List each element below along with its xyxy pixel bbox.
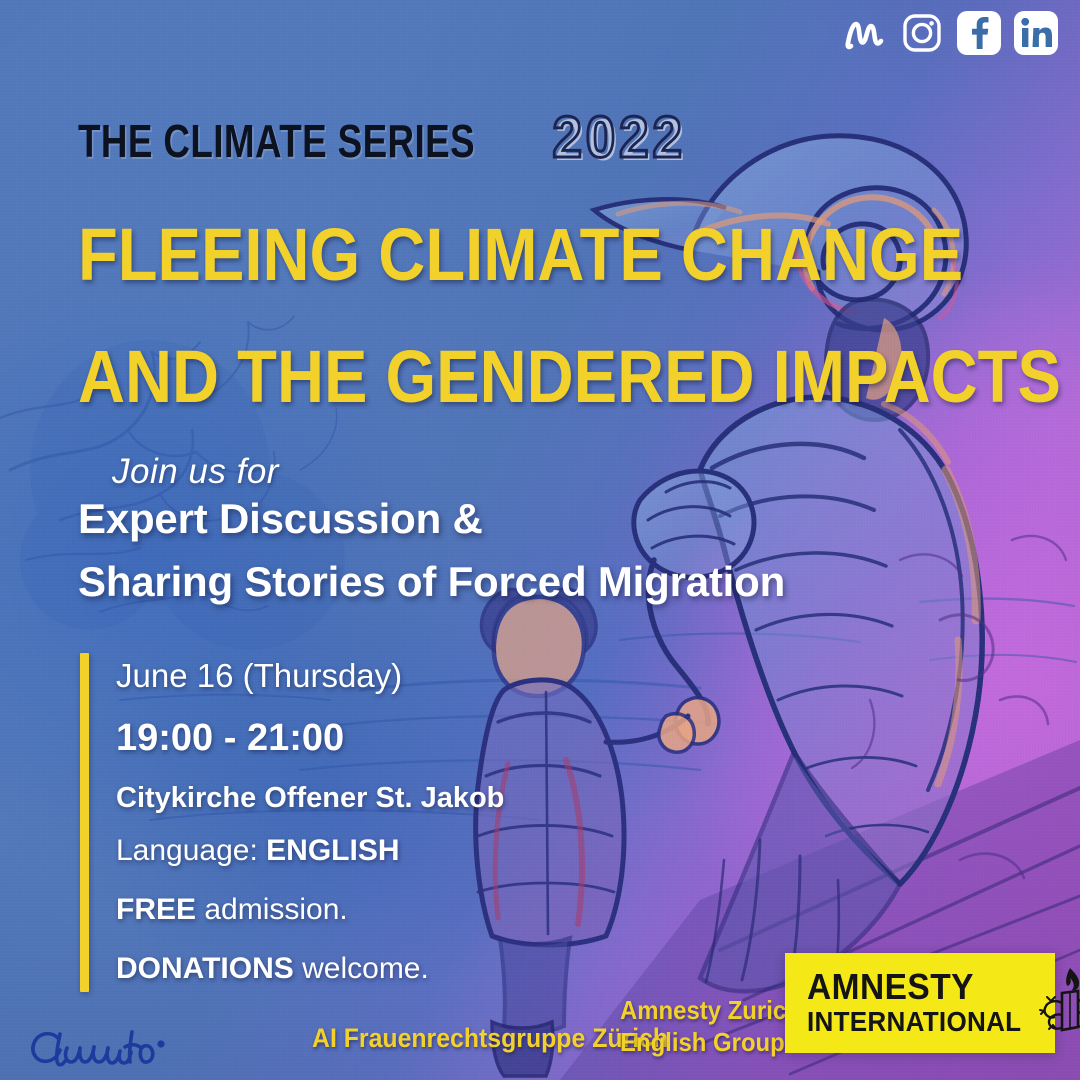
series-label: THE CLIMATE SERIES <box>78 114 475 168</box>
subtitle-line-2: Sharing Stories of Forced Migration <box>78 561 868 603</box>
logo-line-1: AMNESTY <box>807 970 1021 1005</box>
admission-note: FREE admission. <box>116 893 504 927</box>
headline-line-2: AND THE GENDERED IMPACTS <box>78 340 747 414</box>
series-header: THE CLIMATE SERIES 2022 <box>78 104 747 171</box>
facebook-icon[interactable] <box>957 11 1001 55</box>
language-label: Language: <box>116 834 266 867</box>
donations-rest: welcome. <box>294 952 429 985</box>
artist-signature <box>26 1022 176 1080</box>
candle-barbed-wire-icon <box>1037 965 1080 1042</box>
free-rest: admission. <box>196 893 348 926</box>
headline-line-1: FLEEING CLIMATE CHANGE <box>78 218 747 292</box>
subtitle-line-1: Expert Discussion & <box>78 498 868 540</box>
event-language: Language: ENGLISH <box>116 834 504 868</box>
logo-line-2: INTERNATIONAL <box>807 1009 1021 1036</box>
language-value: ENGLISH <box>266 834 399 867</box>
series-year: 2022 <box>553 104 686 171</box>
event-time: 19:00 - 21:00 <box>116 717 504 760</box>
organizer-english-group: English Group <box>620 1027 785 1058</box>
accent-bar <box>80 653 89 992</box>
event-details: June 16 (Thursday) 19:00 - 21:00 Citykir… <box>80 653 504 992</box>
donations-label: DONATIONS <box>116 952 294 985</box>
event-venue: Citykirche Offener St. Jakob <box>116 782 504 815</box>
event-poster: THE CLIMATE SERIES 2022 FLEEING CLIMATE … <box>0 0 1080 1080</box>
donations-note: DONATIONS welcome. <box>116 952 504 986</box>
linkedin-icon[interactable] <box>1014 11 1058 55</box>
meetup-icon[interactable] <box>843 11 887 55</box>
event-date: June 16 (Thursday) <box>116 657 504 695</box>
instagram-icon[interactable] <box>900 11 944 55</box>
social-links <box>843 11 1058 55</box>
subtitle: Expert Discussion & Sharing Stories of F… <box>78 498 868 603</box>
logo-wordmark: AMNESTY INTERNATIONAL <box>807 970 1037 1035</box>
page-title: FLEEING CLIMATE CHANGE AND THE GENDERED … <box>78 218 838 414</box>
free-label: FREE <box>116 893 196 926</box>
organizer-frauenrechtsgruppe: AI Frauenrechtsgruppe Zürich <box>312 1023 668 1054</box>
join-us-label: Join us for <box>112 452 279 492</box>
amnesty-international-logo: AMNESTY INTERNATIONAL <box>785 953 1055 1053</box>
organizer-amnesty-zurich: Amnesty Zurich <box>620 995 801 1026</box>
